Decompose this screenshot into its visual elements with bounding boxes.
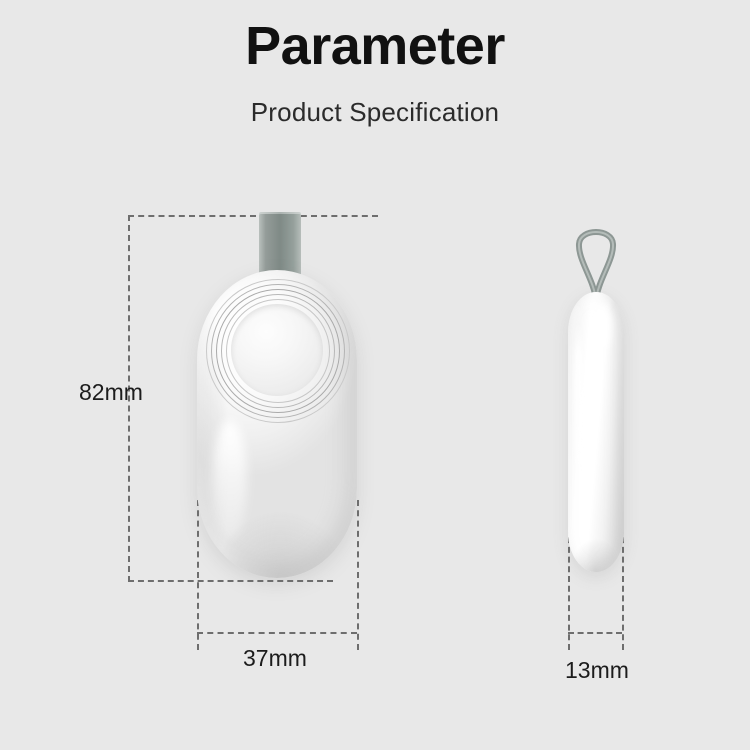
product-side-view xyxy=(568,222,624,572)
dimension-label-depth: 13mm xyxy=(565,657,629,684)
dimension-label-height: 82mm xyxy=(79,379,143,406)
dimension-tick-width-right xyxy=(357,500,359,650)
product-side-highlight xyxy=(574,318,583,488)
dimension-line-depth xyxy=(568,632,622,634)
coil-center-disc xyxy=(231,304,323,396)
dimension-line-width xyxy=(197,632,357,634)
product-spec-sheet: Parameter Product Specification 82mm 37m… xyxy=(0,0,750,750)
page-title: Parameter xyxy=(0,18,750,75)
page-subtitle: Product Specification xyxy=(0,97,750,128)
product-highlight xyxy=(213,420,247,540)
dimension-label-width: 37mm xyxy=(243,645,307,672)
dimension-line-height-bottom xyxy=(128,580,333,582)
dimension-line-height-top xyxy=(128,215,378,217)
product-side-highlight-top xyxy=(594,304,610,350)
product-front-view xyxy=(197,270,357,578)
charging-coil-rings xyxy=(206,279,348,421)
header: Parameter Product Specification xyxy=(0,18,750,128)
lanyard-loop-icon xyxy=(564,220,628,302)
